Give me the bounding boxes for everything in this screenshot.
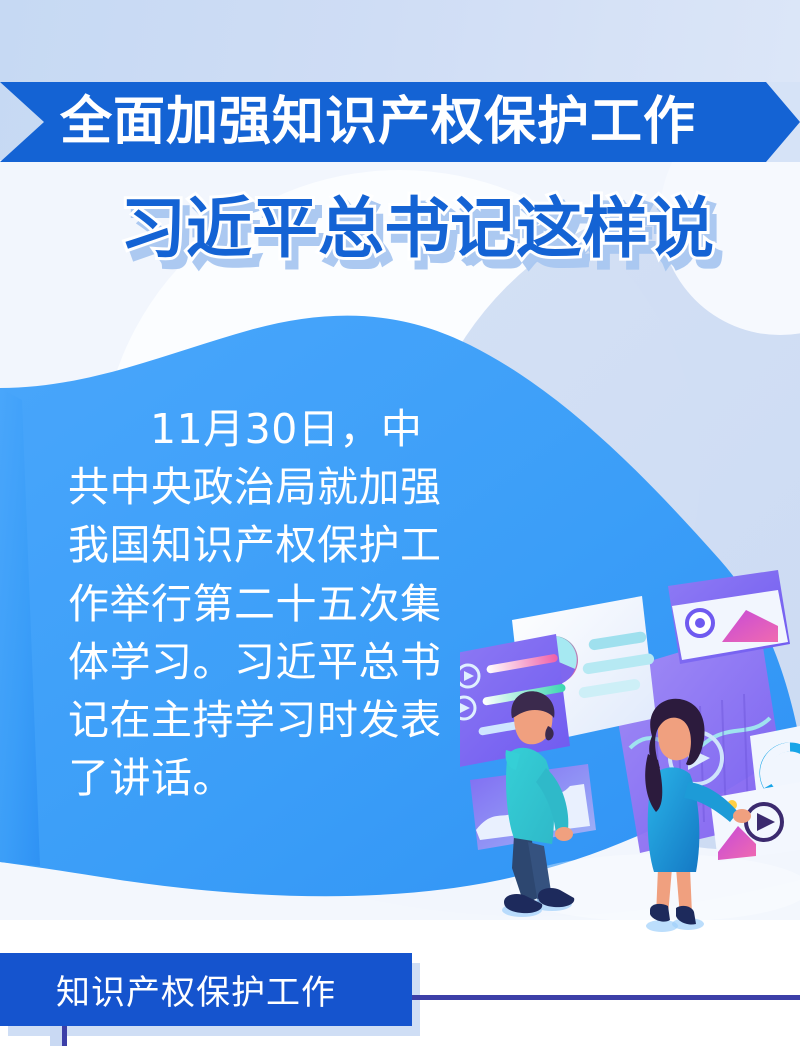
footer-label-text: 知识产权保护工作 (56, 965, 336, 1014)
body-paragraph: 11月30日，中共中央政治局就加强我国知识产权保护工作举行第二十五次集体学习。习… (68, 400, 458, 808)
footer-label-box: 知识产权保护工作 (0, 953, 412, 1026)
footer-horizontal-rule (412, 995, 800, 1000)
banner-title: 全面加强知识产权保护工作 (60, 96, 696, 148)
poster-canvas: 全面加强知识产权保护工作 习近平总书记这样说 11月30日，中共中央政治局就加强… (0, 0, 800, 1046)
illustration-people-and-ui-cards (460, 568, 800, 948)
media-card (668, 570, 790, 664)
woman-hand (733, 809, 751, 823)
subtitle-heading: 习近平总书记这样说 (120, 196, 714, 262)
man-hand (555, 827, 573, 841)
title-banner: 全面加强知识产权保护工作 (0, 82, 800, 162)
footer-stem-line (62, 1026, 67, 1046)
